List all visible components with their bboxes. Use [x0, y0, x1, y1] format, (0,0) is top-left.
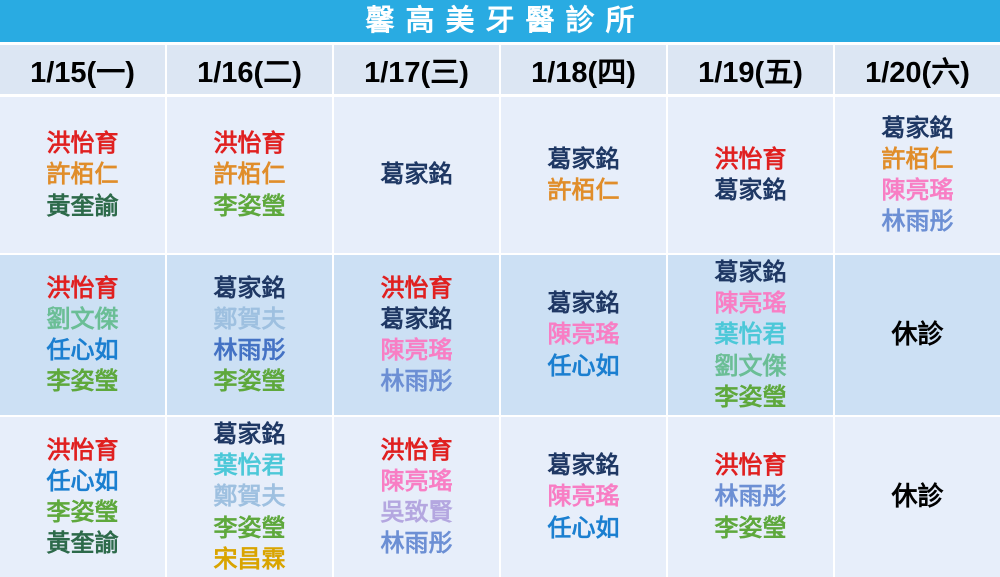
doctor-name: 任心如	[548, 513, 620, 544]
doctor-name: 鄭賀夫	[214, 481, 286, 512]
schedule-cell-r2-c0[interactable]: 洪怡育任心如李姿瑩黃奎諭	[0, 417, 167, 577]
doctor-name: 陳亮瑤	[715, 288, 787, 319]
doctor-name: 林雨彤	[715, 481, 787, 512]
date-header-cell-3: 1/18(四)	[501, 45, 668, 94]
doctor-name: 葛家銘	[715, 257, 787, 288]
doctor-name: 劉文傑	[47, 304, 119, 335]
doctor-name: 許栢仁	[882, 144, 954, 175]
doctor-name: 李姿瑩	[715, 513, 787, 544]
doctor-name: 陳亮瑤	[882, 175, 954, 206]
schedule-cell-r2-c2[interactable]: 洪怡育陳亮瑤吳致賢林雨彤	[334, 417, 501, 577]
doctor-name: 劉文傑	[715, 351, 787, 382]
doctor-name: 任心如	[47, 335, 119, 366]
doctor-name: 葛家銘	[214, 419, 286, 450]
doctor-name: 宋昌霖	[214, 544, 286, 575]
doctor-name: 李姿瑩	[214, 513, 286, 544]
doctor-name: 鄭賀夫	[214, 304, 286, 335]
doctor-name: 許栢仁	[214, 159, 286, 190]
doctor-name: 黃奎諭	[47, 528, 119, 559]
doctor-name: 洪怡育	[715, 450, 787, 481]
schedule-cell-r0-c2[interactable]: 葛家銘	[334, 97, 501, 253]
doctor-name: 林雨彤	[214, 335, 286, 366]
doctor-name: 林雨彤	[381, 366, 453, 397]
doctor-name: 黃奎諭	[47, 191, 119, 222]
schedule-cell-r0-c1[interactable]: 洪怡育許栢仁李姿瑩	[167, 97, 334, 253]
schedule-cell-r1-c2[interactable]: 洪怡育葛家銘陳亮瑤林雨彤	[334, 255, 501, 415]
doctor-name: 許栢仁	[47, 159, 119, 190]
clinic-schedule-sheet: 馨高美牙醫診所 1/15(一) 1/16(二) 1/17(三) 1/18(四) …	[0, 0, 1000, 563]
page-title: 馨高美牙醫診所	[354, 7, 645, 36]
schedule-body: 洪怡育許栢仁黃奎諭洪怡育許栢仁李姿瑩葛家銘葛家銘許栢仁洪怡育葛家銘葛家銘許栢仁陳…	[0, 97, 1000, 577]
date-header-cell-4: 1/19(五)	[668, 45, 835, 94]
schedule-cell-r2-c5[interactable]: 休診	[835, 417, 1000, 577]
doctor-name: 洪怡育	[47, 273, 119, 304]
doctor-name: 葉怡君	[715, 319, 787, 350]
doctor-name: 洪怡育	[47, 435, 119, 466]
doctor-name: 林雨彤	[882, 206, 954, 237]
doctor-name: 洪怡育	[214, 128, 286, 159]
schedule-row-evening: 洪怡育任心如李姿瑩黃奎諭葛家銘葉怡君鄭賀夫李姿瑩宋昌霖洪怡育陳亮瑤吳致賢林雨彤葛…	[0, 417, 1000, 577]
schedule-cell-r0-c3[interactable]: 葛家銘許栢仁	[501, 97, 668, 253]
doctor-name: 李姿瑩	[47, 497, 119, 528]
doctor-name: 洪怡育	[47, 128, 119, 159]
schedule-cell-r1-c1[interactable]: 葛家銘鄭賀夫林雨彤李姿瑩	[167, 255, 334, 415]
doctor-name: 吳致賢	[381, 497, 453, 528]
doctor-name: 陳亮瑤	[548, 481, 620, 512]
clinic-title-banner: 馨高美牙醫診所	[0, 0, 1000, 45]
schedule-cell-r2-c3[interactable]: 葛家銘陳亮瑤任心如	[501, 417, 668, 577]
doctor-name: 許栢仁	[548, 175, 620, 206]
schedule-cell-r0-c0[interactable]: 洪怡育許栢仁黃奎諭	[0, 97, 167, 253]
date-header-cell-1: 1/16(二)	[167, 45, 334, 94]
schedule-cell-r1-c0[interactable]: 洪怡育劉文傑任心如李姿瑩	[0, 255, 167, 415]
schedule-cell-r0-c5[interactable]: 葛家銘許栢仁陳亮瑤林雨彤	[835, 97, 1000, 253]
doctor-name: 李姿瑩	[715, 382, 787, 413]
closed-label: 休診	[891, 480, 943, 514]
doctor-name: 葉怡君	[214, 450, 286, 481]
closed-label: 休診	[891, 318, 943, 352]
doctor-name: 洪怡育	[381, 273, 453, 304]
doctor-name: 葛家銘	[381, 159, 453, 190]
doctor-name: 葛家銘	[548, 144, 620, 175]
doctor-name: 葛家銘	[548, 288, 620, 319]
schedule-cell-r1-c3[interactable]: 葛家銘陳亮瑤任心如	[501, 255, 668, 415]
date-header-row: 1/15(一) 1/16(二) 1/17(三) 1/18(四) 1/19(五) …	[0, 45, 1000, 97]
schedule-cell-r1-c4[interactable]: 葛家銘陳亮瑤葉怡君劉文傑李姿瑩	[668, 255, 835, 415]
doctor-name: 李姿瑩	[214, 366, 286, 397]
doctor-name: 洪怡育	[715, 144, 787, 175]
doctor-name: 李姿瑩	[47, 366, 119, 397]
doctor-name: 任心如	[47, 466, 119, 497]
doctor-name: 葛家銘	[715, 175, 787, 206]
schedule-cell-r2-c1[interactable]: 葛家銘葉怡君鄭賀夫李姿瑩宋昌霖	[167, 417, 334, 577]
doctor-name: 葛家銘	[548, 450, 620, 481]
schedule-cell-r1-c5[interactable]: 休診	[835, 255, 1000, 415]
date-header-cell-2: 1/17(三)	[334, 45, 501, 94]
schedule-row-afternoon: 洪怡育劉文傑任心如李姿瑩葛家銘鄭賀夫林雨彤李姿瑩洪怡育葛家銘陳亮瑤林雨彤葛家銘陳…	[0, 255, 1000, 417]
schedule-cell-r0-c4[interactable]: 洪怡育葛家銘	[668, 97, 835, 253]
schedule-row-morning: 洪怡育許栢仁黃奎諭洪怡育許栢仁李姿瑩葛家銘葛家銘許栢仁洪怡育葛家銘葛家銘許栢仁陳…	[0, 97, 1000, 255]
schedule-cell-r2-c4[interactable]: 洪怡育林雨彤李姿瑩	[668, 417, 835, 577]
doctor-name: 陳亮瑤	[381, 466, 453, 497]
date-header-cell-0: 1/15(一)	[0, 45, 167, 94]
doctor-name: 任心如	[548, 351, 620, 382]
doctor-name: 葛家銘	[882, 113, 954, 144]
doctor-name: 洪怡育	[381, 435, 453, 466]
date-header-cell-5: 1/20(六)	[835, 45, 1000, 94]
doctor-name: 李姿瑩	[214, 191, 286, 222]
doctor-name: 陳亮瑤	[381, 335, 453, 366]
doctor-name: 陳亮瑤	[548, 319, 620, 350]
doctor-name: 葛家銘	[214, 273, 286, 304]
doctor-name: 葛家銘	[381, 304, 453, 335]
doctor-name: 林雨彤	[381, 528, 453, 559]
